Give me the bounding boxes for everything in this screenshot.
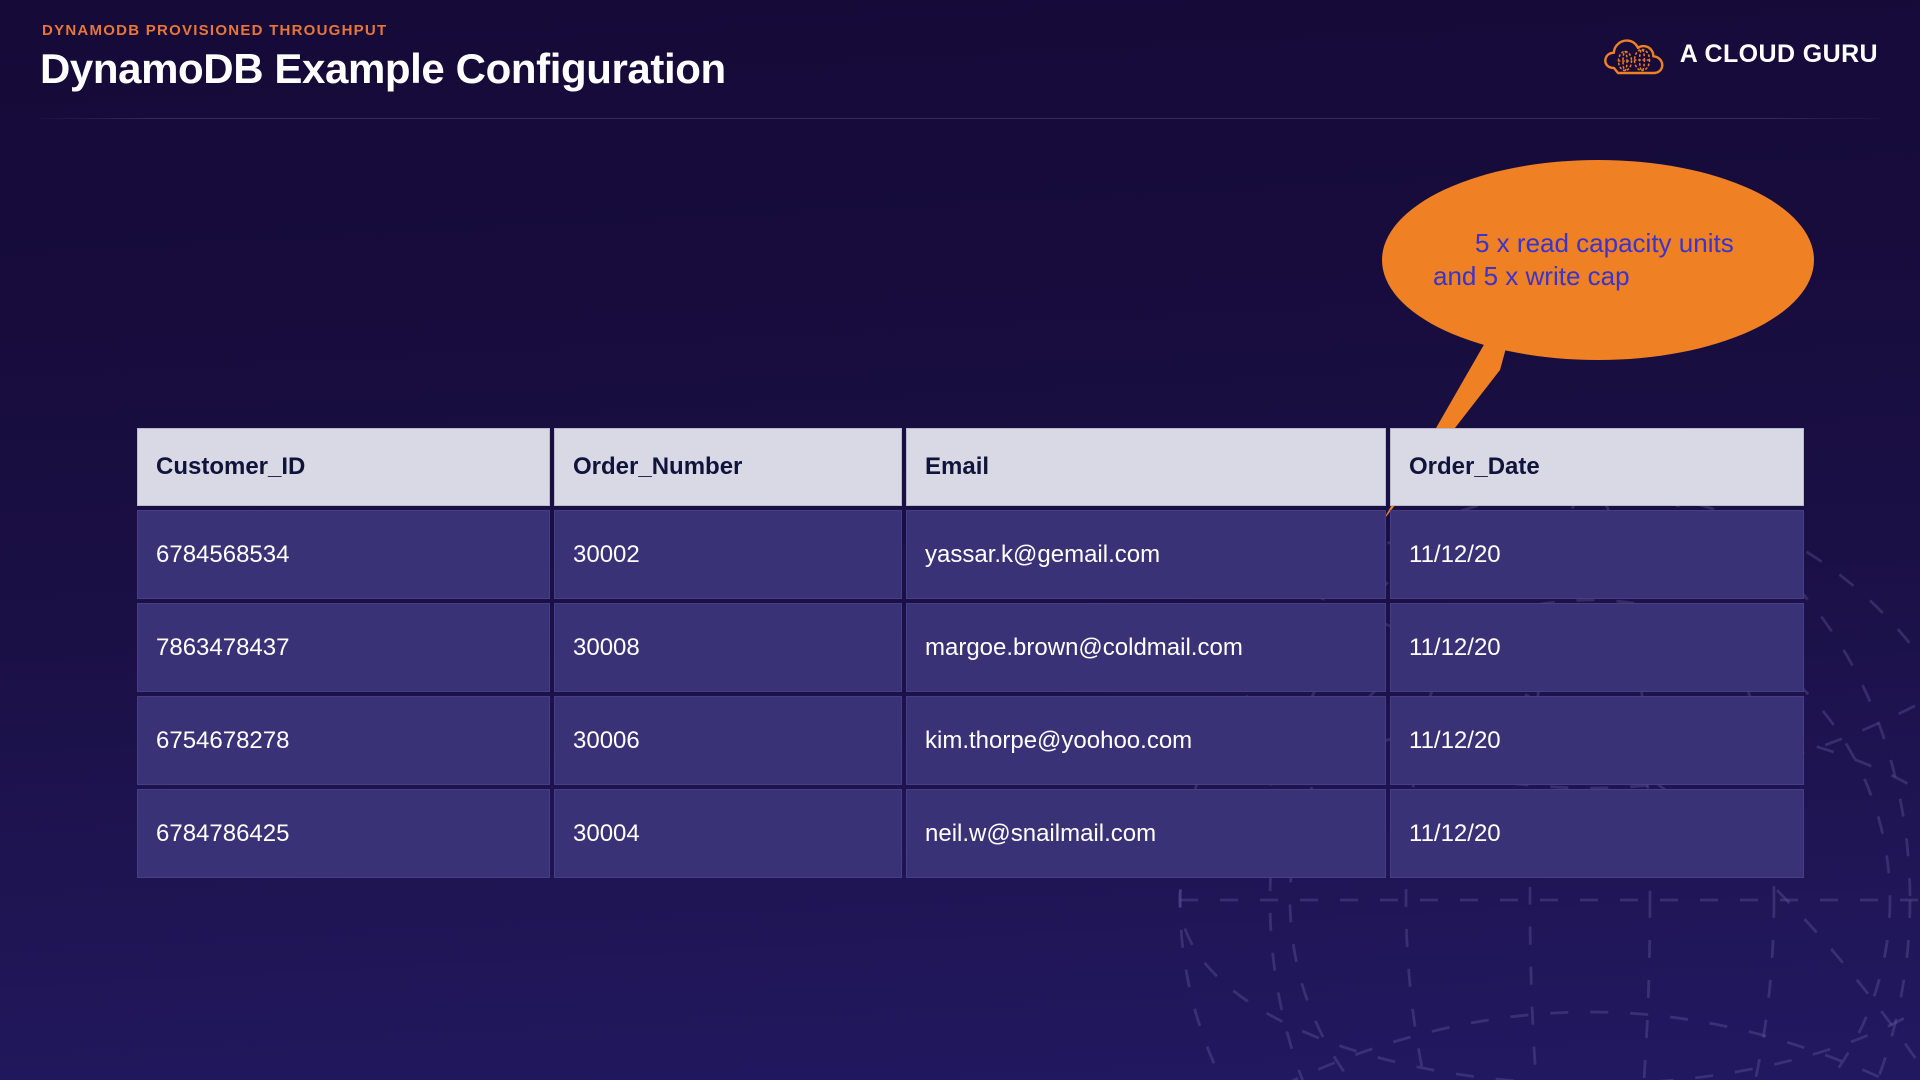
callout-body: 5 x read capacity units and 5 x write ca… [1382,160,1814,360]
eyebrow-label: DYNAMODB PROVISIONED THROUGHPUT [42,22,387,39]
customer-orders-table: Customer_ID Order_Number Email Order_Dat… [133,424,1808,882]
table-row: 6784786425 30004 neil.w@snailmail.com 11… [137,789,1804,878]
table-row: 7863478437 30008 margoe.brown@coldmail.c… [137,603,1804,692]
cell-order-date: 11/12/20 [1390,603,1804,692]
cell-order-date: 11/12/20 [1390,510,1804,599]
brand-name: A CLOUD GURU [1680,40,1878,69]
table-row: 6754678278 30006 kim.thorpe@yoohoo.com 1… [137,696,1804,785]
cell-customer-id: 6784568534 [137,510,550,599]
cell-email: yassar.k@gemail.com [906,510,1386,599]
page-title: DynamoDB Example Configuration [40,45,726,93]
slide-header: DYNAMODB PROVISIONED THROUGHPUT DynamoDB… [0,0,1920,125]
cell-customer-id: 6754678278 [137,696,550,785]
cell-order-date: 11/12/20 [1390,789,1804,878]
callout-text: 5 x read capacity units and 5 x write ca… [1433,227,1763,294]
slide-canvas: DYNAMODB PROVISIONED THROUGHPUT DynamoDB… [0,0,1920,1080]
table-header-row: Customer_ID Order_Number Email Order_Dat… [137,428,1804,506]
cell-email: margoe.brown@coldmail.com [906,603,1386,692]
cell-order-number: 30008 [554,603,902,692]
cell-order-number: 30002 [554,510,902,599]
header-divider [40,118,1880,119]
column-header-order-number[interactable]: Order_Number [554,428,902,506]
cell-order-number: 30004 [554,789,902,878]
cell-customer-id: 7863478437 [137,603,550,692]
callout-bubble: 5 x read capacity units and 5 x write ca… [1382,160,1814,360]
cell-order-number: 30006 [554,696,902,785]
cell-customer-id: 6784786425 [137,789,550,878]
brand-logo: A CLOUD GURU [1604,32,1878,76]
cell-email: neil.w@snailmail.com [906,789,1386,878]
cell-order-date: 11/12/20 [1390,696,1804,785]
column-header-customer-id[interactable]: Customer_ID [137,428,550,506]
cloud-icon [1604,32,1666,76]
column-header-order-date[interactable]: Order_Date [1390,428,1804,506]
cell-email: kim.thorpe@yoohoo.com [906,696,1386,785]
table-row: 6784568534 30002 yassar.k@gemail.com 11/… [137,510,1804,599]
column-header-email[interactable]: Email [906,428,1386,506]
